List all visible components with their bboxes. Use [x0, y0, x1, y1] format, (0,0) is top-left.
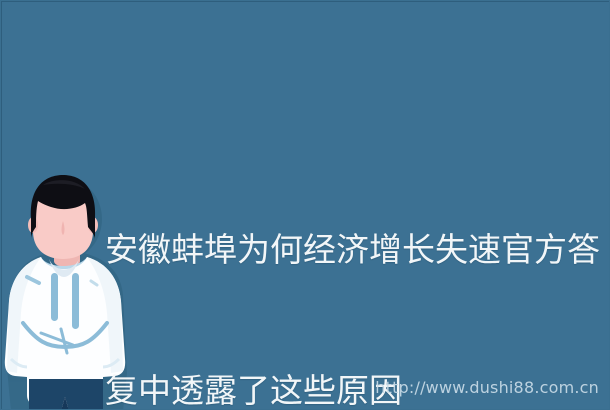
head-group [28, 175, 98, 259]
watermark-url: http://www.dushi88.com.cn [375, 378, 599, 397]
article-thumbnail-card: 安徽蚌埠为何经济增长失速官方答 复中透露了这些原因 http://www.dus… [0, 0, 610, 410]
headline-line-1: 安徽蚌埠为何经济增长失速官方答 [105, 226, 601, 273]
drawstring-left-shape [51, 273, 58, 321]
drawstring-right-shape [72, 273, 79, 329]
article-headline: 安徽蚌埠为何经济增长失速官方答 复中透露了这些原因 [105, 132, 601, 410]
